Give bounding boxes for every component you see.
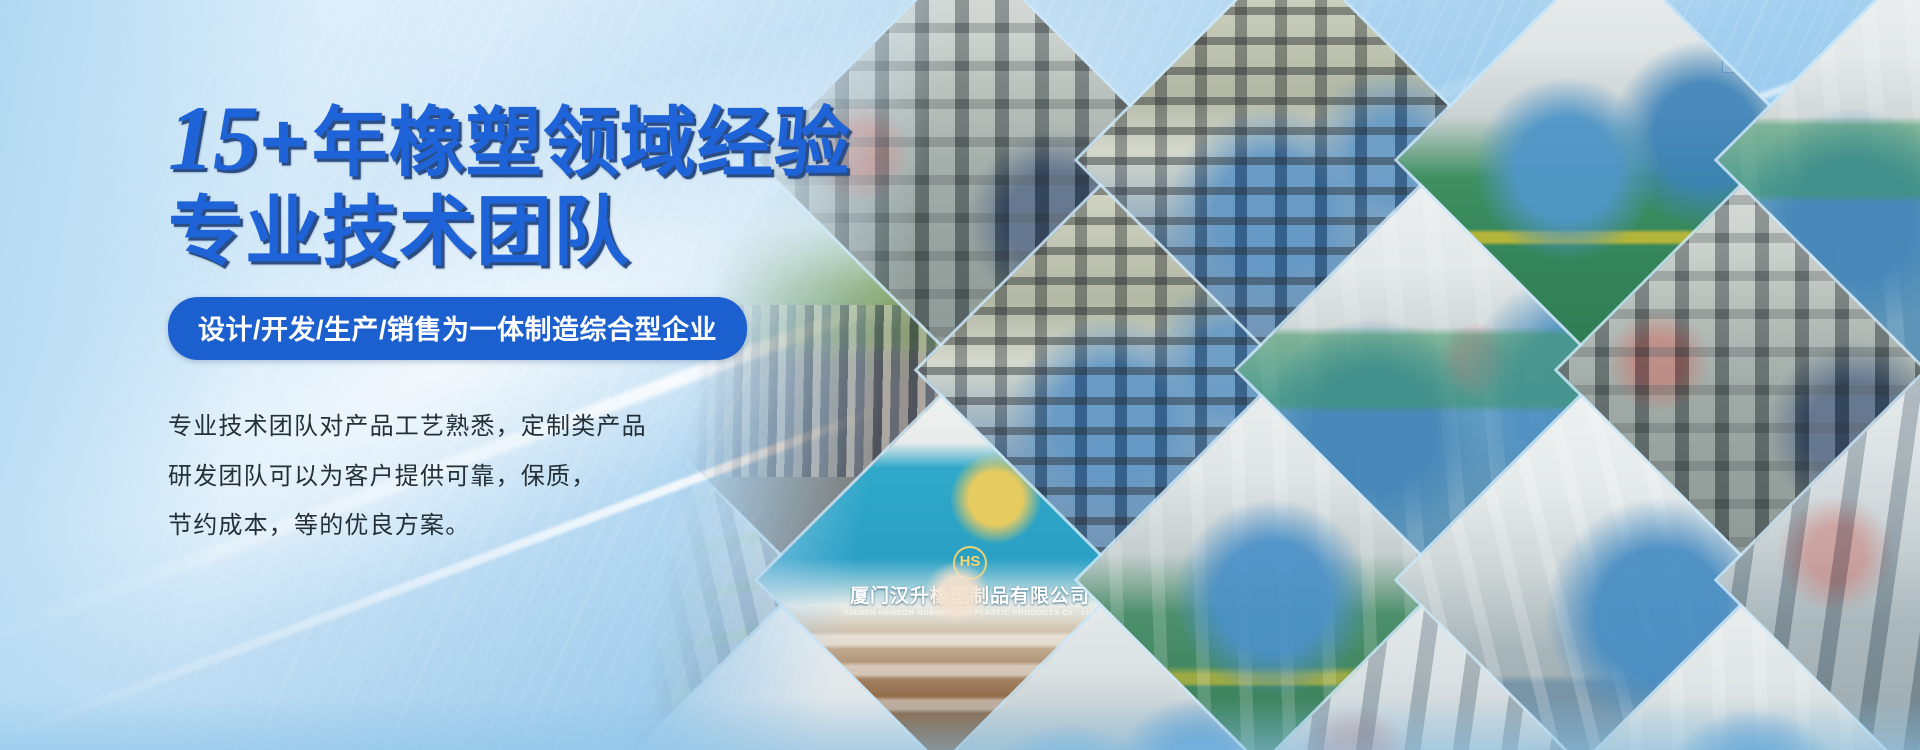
company-logo-mark: HS <box>953 546 987 580</box>
description-line-1: 专业技术团队对产品工艺熟悉，定制类产品 <box>168 402 928 451</box>
description-line-2: 研发团队可以为客户提供可靠，保质， <box>168 452 928 501</box>
description-paragraph: 专业技术团队对产品工艺熟悉，定制类产品 研发团队可以为客户提供可靠，保质， 节约… <box>168 402 928 550</box>
promo-banner: HS 厦门汉升橡塑制品有限公司 XIAMEN HENSON RUBBER AND… <box>0 0 1920 750</box>
qc-area-sign: 检测区 <box>1722 57 1757 73</box>
copy-block: 15+年橡塑领域经验 专业技术团队 设计/开发/生产/销售为一体制造综合型企业 … <box>168 92 928 551</box>
headline-line-2: 专业技术团队 <box>168 194 928 272</box>
headline-plus-sign: + <box>260 97 312 186</box>
headline-line-1-text: 年橡塑领域经验 <box>312 101 851 186</box>
description-line-3: 节约成本，等的优良方案。 <box>168 501 928 550</box>
headline-years-number: 15 <box>168 87 260 189</box>
capability-pill-badge: 设计/开发/生产/销售为一体制造综合型企业 <box>168 297 747 360</box>
headline-line-1: 15+年橡塑领域经验 <box>168 92 928 186</box>
